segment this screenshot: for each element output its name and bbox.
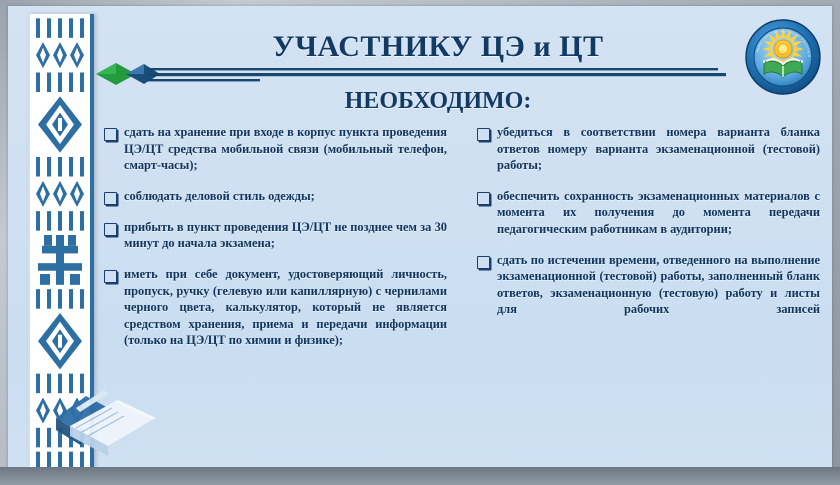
checkbox-bullet-icon: [104, 223, 117, 236]
checkbox-bullet-icon: [104, 128, 117, 141]
checkbox-bullet-icon: [104, 270, 117, 283]
list-item-text: убедиться в соответствии номера варианта…: [497, 124, 820, 174]
list-item: соблюдать деловой стиль одежды;: [104, 188, 447, 205]
list-item-text: сдать по истечении времени, отведенного …: [497, 252, 820, 335]
list-item: обеспечить сохранность экзаменационных м…: [477, 188, 820, 238]
left-column: сдать на хранение при входе в корпус пун…: [104, 124, 447, 464]
list-item: убедиться в соответствии номера варианта…: [477, 124, 820, 174]
right-column: убедиться в соответствии номера варианта…: [477, 124, 820, 464]
belarusian-ornament-band: [28, 14, 94, 469]
checkbox-bullet-icon: [477, 192, 490, 205]
list-item-text: соблюдать деловой стиль одежды;: [124, 188, 447, 205]
ornament-pattern-icon: [30, 14, 90, 469]
ornament-band: [28, 14, 94, 469]
list-item-text: прибыть в пункт проведения ЦЭ/ЦТ не позд…: [124, 219, 447, 252]
slide: УЧАСТНИКУ ЦЭ и ЦТ НЕОБХОДИМО:: [0, 0, 840, 485]
list-item: сдать на хранение при входе в корпус пун…: [104, 124, 447, 174]
list-item: иметь при себе документ, удостоверяющий …: [104, 266, 447, 349]
list-item-text: иметь при себе документ, удостоверяющий …: [124, 266, 447, 349]
list-item: прибыть в пункт проведения ЦЭ/ЦТ не позд…: [104, 219, 447, 252]
checkbox-bullet-icon: [477, 128, 490, 141]
bottom-strip: [0, 467, 840, 485]
decorative-arrow-rule: [96, 61, 736, 87]
list-item: сдать по истечении времени, отведенного …: [477, 252, 820, 335]
checkbox-bullet-icon: [104, 192, 117, 205]
ministry-of-education-emblem: МІНІСТЭРСТВА АДУКАЦЫІ РЭСПУБЛІКІ БЕЛАРУС…: [744, 18, 822, 96]
slide-page: УЧАСТНИКУ ЦЭ и ЦТ НЕОБХОДИМО:: [8, 6, 832, 470]
list-item-text: обеспечить сохранность экзаменационных м…: [497, 188, 820, 238]
requirements-columns: сдать на хранение при входе в корпус пун…: [104, 124, 820, 464]
list-item-text: сдать на хранение при входе в корпус пун…: [124, 124, 447, 174]
checkbox-bullet-icon: [477, 256, 490, 269]
page-title: УЧАСТНИКУ ЦЭ и ЦТ: [158, 30, 718, 64]
page-subtitle: НЕОБХОДИМО:: [158, 88, 718, 115]
